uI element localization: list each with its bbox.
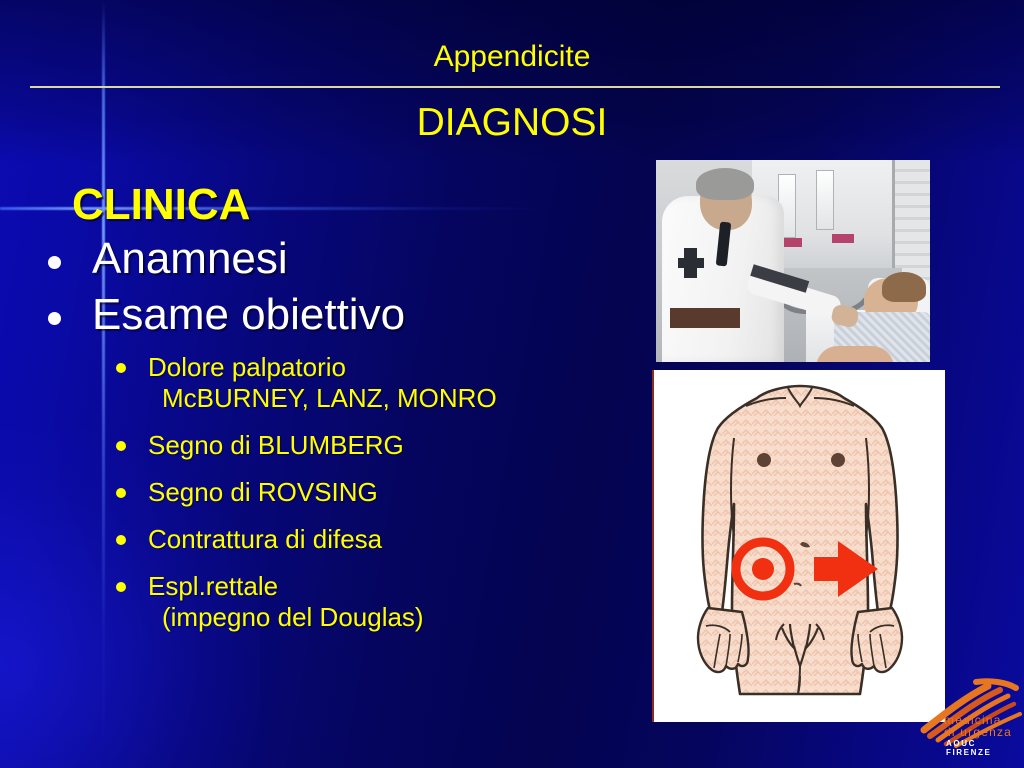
bullet-dot-icon xyxy=(48,312,61,325)
bullet-dot-icon xyxy=(116,441,126,451)
bullet-dot-icon xyxy=(48,256,61,269)
list-item-continuation: McBURNEY, LANZ, MONRO xyxy=(148,383,640,414)
slide-title: Appendicite xyxy=(0,40,1024,74)
clinical-examination-photo: Doctor in white coat examining a patient… xyxy=(656,160,930,362)
logo-line-2: di urgenza xyxy=(944,726,1012,738)
content-column: CLINICA Anamnesi Esame obiettivo Dolore … xyxy=(0,180,640,649)
list-item: Segno di BLUMBERG xyxy=(112,430,640,461)
list-item-label: Esame obiettivo xyxy=(92,290,405,339)
list-item-label: Anamnesi xyxy=(92,234,288,283)
torso-illustration xyxy=(662,376,939,716)
bullet-dot-icon xyxy=(116,488,126,498)
list-item-label: Espl.rettale xyxy=(148,571,278,601)
list-item: Segno di ROVSING xyxy=(112,477,640,508)
list-item-continuation: (impegno del Douglas) xyxy=(148,602,640,633)
bullet-dot-icon xyxy=(116,535,126,545)
list-item: Esame obiettivo xyxy=(40,288,640,342)
list-item-label: Segno di ROVSING xyxy=(148,477,378,507)
secondary-bullet-list: Dolore palpatorio McBURNEY, LANZ, MONRO … xyxy=(0,352,640,633)
list-item-label: Segno di BLUMBERG xyxy=(148,430,404,460)
list-item-label: Contrattura di difesa xyxy=(148,524,382,554)
primary-bullet-list: Anamnesi Esame obiettivo xyxy=(0,232,640,342)
list-item-label: Dolore palpatorio xyxy=(148,352,346,382)
logo-line-3: AOUC FIRENZE xyxy=(946,739,1024,757)
abdomen-mcburney-point-diagram: Front view of human torso with red targe… xyxy=(652,370,945,722)
bullet-dot-icon xyxy=(116,582,126,592)
list-item: Dolore palpatorio McBURNEY, LANZ, MONRO xyxy=(112,352,640,414)
list-item: Anamnesi xyxy=(40,232,640,286)
list-item: Contrattura di difesa xyxy=(112,524,640,555)
organization-logo: medicina di urgenza AOUC FIRENZE xyxy=(916,672,1024,752)
bullet-dot-icon xyxy=(116,363,126,373)
list-item: Espl.rettale (impegno del Douglas) xyxy=(112,571,640,633)
slide-subtitle: DIAGNOSI xyxy=(0,101,1024,145)
header-divider xyxy=(30,86,1000,88)
section-heading-clinica: CLINICA xyxy=(72,180,640,230)
slide-canvas: Appendicite DIAGNOSI CLINICA Anamnesi Es… xyxy=(0,0,1024,768)
